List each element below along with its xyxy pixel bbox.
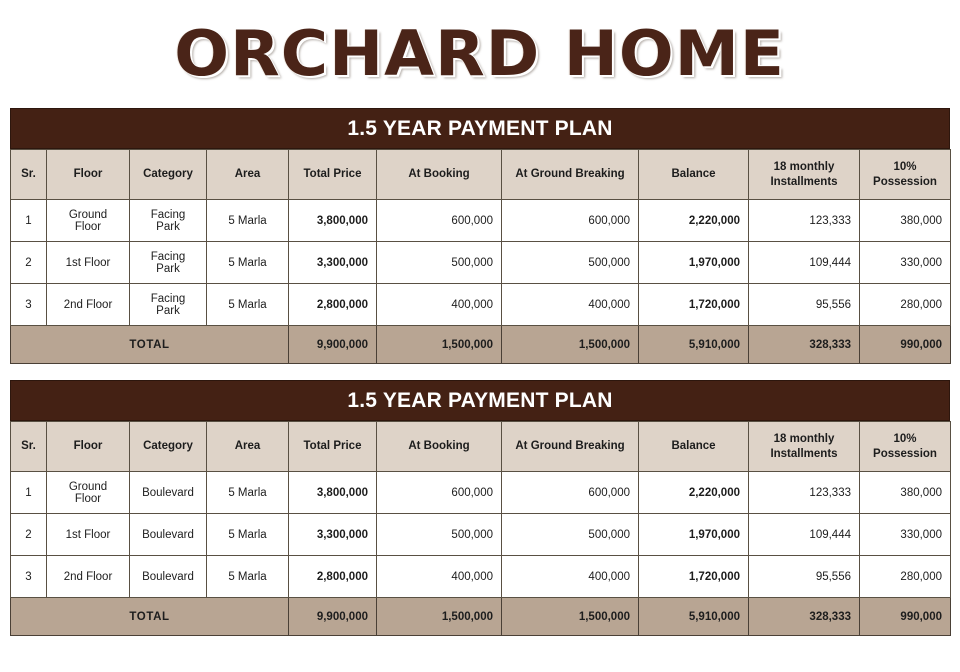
cell-sr: 3 [11,284,47,326]
column-header-total-price: Total Price [289,422,377,472]
possession-line-1: 10% [893,161,916,173]
total-at-ground-breaking: 1,500,000 [502,598,639,636]
cell-installments: 109,444 [749,514,860,556]
column-header-installments: 18 monthly Installments [749,422,860,472]
column-header-at-ground-breaking: At Ground Breaking [502,422,639,472]
total-possession: 990,000 [860,326,951,364]
cell-floor: 1st Floor [47,514,130,556]
column-header-floor: Floor [47,150,130,200]
cell-installments: 95,556 [749,284,860,326]
payment-plan-block-2: 1.5 YEAR PAYMENT PLAN Sr. Floor Category… [10,380,950,636]
column-header-at-booking: At Booking [377,422,502,472]
table-row: 2 1st Floor Facing Park 5 Marla 3,300,00… [11,242,951,284]
column-header-possession: 10% Possession [860,150,951,200]
cell-balance: 2,220,000 [639,200,749,242]
table-row: 3 2nd Floor Boulevard 5 Marla 2,800,000 … [11,556,951,598]
installments-line-2: Installments [770,176,837,188]
plan-banner-title-1: 1.5 YEAR PAYMENT PLAN [347,117,612,141]
total-at-booking: 1,500,000 [377,326,502,364]
total-label: TOTAL [11,598,289,636]
cell-at-ground-breaking: 500,000 [502,242,639,284]
possession-line-1: 10% [893,433,916,445]
total-label: TOTAL [11,326,289,364]
column-header-balance: Balance [639,150,749,200]
cell-at-ground-breaking: 600,000 [502,200,639,242]
masthead: ORCHARD HOME [10,0,950,108]
cell-balance: 1,970,000 [639,514,749,556]
cell-possession: 380,000 [860,200,951,242]
cell-total-price: 3,800,000 [289,200,377,242]
total-balance: 5,910,000 [639,598,749,636]
cell-installments: 123,333 [749,472,860,514]
column-header-category: Category [130,150,207,200]
cell-total-price: 2,800,000 [289,556,377,598]
total-at-ground-breaking: 1,500,000 [502,326,639,364]
payment-plan-block-1: 1.5 YEAR PAYMENT PLAN Sr. Floor Category… [10,108,950,364]
total-total-price: 9,900,000 [289,598,377,636]
cell-at-ground-breaking: 500,000 [502,514,639,556]
page-title: ORCHARD HOME [175,23,786,85]
cell-possession: 380,000 [860,472,951,514]
cell-category: Facing Park [130,242,207,284]
column-header-area: Area [207,422,289,472]
column-header-possession: 10% Possession [860,422,951,472]
cell-installments: 109,444 [749,242,860,284]
cell-sr: 3 [11,556,47,598]
cell-possession: 330,000 [860,514,951,556]
cell-area: 5 Marla [207,514,289,556]
cell-category: Boulevard [130,472,207,514]
plan-banner-1: 1.5 YEAR PAYMENT PLAN [10,108,950,149]
cell-floor: 2nd Floor [47,556,130,598]
cell-floor: Ground Floor [47,200,130,242]
cell-total-price: 3,800,000 [289,472,377,514]
cell-installments: 95,556 [749,556,860,598]
cell-sr: 2 [11,242,47,284]
column-header-balance: Balance [639,422,749,472]
installments-line-2: Installments [770,448,837,460]
column-header-at-booking: At Booking [377,150,502,200]
cell-at-booking: 400,000 [377,556,502,598]
cell-category: Boulevard [130,556,207,598]
cell-installments: 123,333 [749,200,860,242]
table-header-row: Sr. Floor Category Area Total Price At B… [11,422,951,472]
cell-sr: 1 [11,472,47,514]
payment-plan-page: ORCHARD HOME 1.5 YEAR PAYMENT PLAN Sr. F… [0,0,960,672]
table-row: 1 Ground Floor Facing Park 5 Marla 3,800… [11,200,951,242]
column-header-category: Category [130,422,207,472]
plan-banner-2: 1.5 YEAR PAYMENT PLAN [10,380,950,421]
possession-line-2: Possession [873,448,937,460]
total-at-booking: 1,500,000 [377,598,502,636]
table-row: 2 1st Floor Boulevard 5 Marla 3,300,000 … [11,514,951,556]
cell-category: Facing Park [130,200,207,242]
table-total-row: TOTAL 9,900,000 1,500,000 1,500,000 5,91… [11,598,951,636]
table-header-row: Sr. Floor Category Area Total Price At B… [11,150,951,200]
cell-area: 5 Marla [207,242,289,284]
cell-balance: 1,970,000 [639,242,749,284]
total-balance: 5,910,000 [639,326,749,364]
table-row: 1 Ground Floor Boulevard 5 Marla 3,800,0… [11,472,951,514]
cell-at-ground-breaking: 400,000 [502,284,639,326]
cell-at-booking: 600,000 [377,200,502,242]
total-possession: 990,000 [860,598,951,636]
total-total-price: 9,900,000 [289,326,377,364]
column-header-installments: 18 monthly Installments [749,150,860,200]
cell-at-booking: 500,000 [377,514,502,556]
cell-at-ground-breaking: 400,000 [502,556,639,598]
table-total-row: TOTAL 9,900,000 1,500,000 1,500,000 5,91… [11,326,951,364]
plan-banner-title-2: 1.5 YEAR PAYMENT PLAN [347,389,612,413]
total-installments: 328,333 [749,598,860,636]
cell-total-price: 3,300,000 [289,242,377,284]
cell-at-booking: 600,000 [377,472,502,514]
cell-possession: 330,000 [860,242,951,284]
column-header-area: Area [207,150,289,200]
installments-line-1: 18 monthly [774,161,835,173]
cell-possession: 280,000 [860,284,951,326]
cell-balance: 2,220,000 [639,472,749,514]
cell-balance: 1,720,000 [639,284,749,326]
cell-category: Facing Park [130,284,207,326]
cell-area: 5 Marla [207,200,289,242]
installments-line-1: 18 monthly [774,433,835,445]
possession-line-2: Possession [873,176,937,188]
cell-floor: 1st Floor [47,242,130,284]
cell-area: 5 Marla [207,556,289,598]
table-row: 3 2nd Floor Facing Park 5 Marla 2,800,00… [11,284,951,326]
cell-category: Boulevard [130,514,207,556]
cell-sr: 1 [11,200,47,242]
payment-plan-table-1: Sr. Floor Category Area Total Price At B… [10,149,951,364]
cell-floor: 2nd Floor [47,284,130,326]
cell-at-booking: 500,000 [377,242,502,284]
cell-sr: 2 [11,514,47,556]
cell-balance: 1,720,000 [639,556,749,598]
column-header-sr: Sr. [11,150,47,200]
cell-floor: Ground Floor [47,472,130,514]
cell-total-price: 3,300,000 [289,514,377,556]
cell-at-ground-breaking: 600,000 [502,472,639,514]
cell-area: 5 Marla [207,472,289,514]
cell-possession: 280,000 [860,556,951,598]
cell-at-booking: 400,000 [377,284,502,326]
cell-area: 5 Marla [207,284,289,326]
payment-plan-table-2: Sr. Floor Category Area Total Price At B… [10,421,951,636]
column-header-sr: Sr. [11,422,47,472]
column-header-total-price: Total Price [289,150,377,200]
cell-total-price: 2,800,000 [289,284,377,326]
column-header-at-ground-breaking: At Ground Breaking [502,150,639,200]
total-installments: 328,333 [749,326,860,364]
column-header-floor: Floor [47,422,130,472]
